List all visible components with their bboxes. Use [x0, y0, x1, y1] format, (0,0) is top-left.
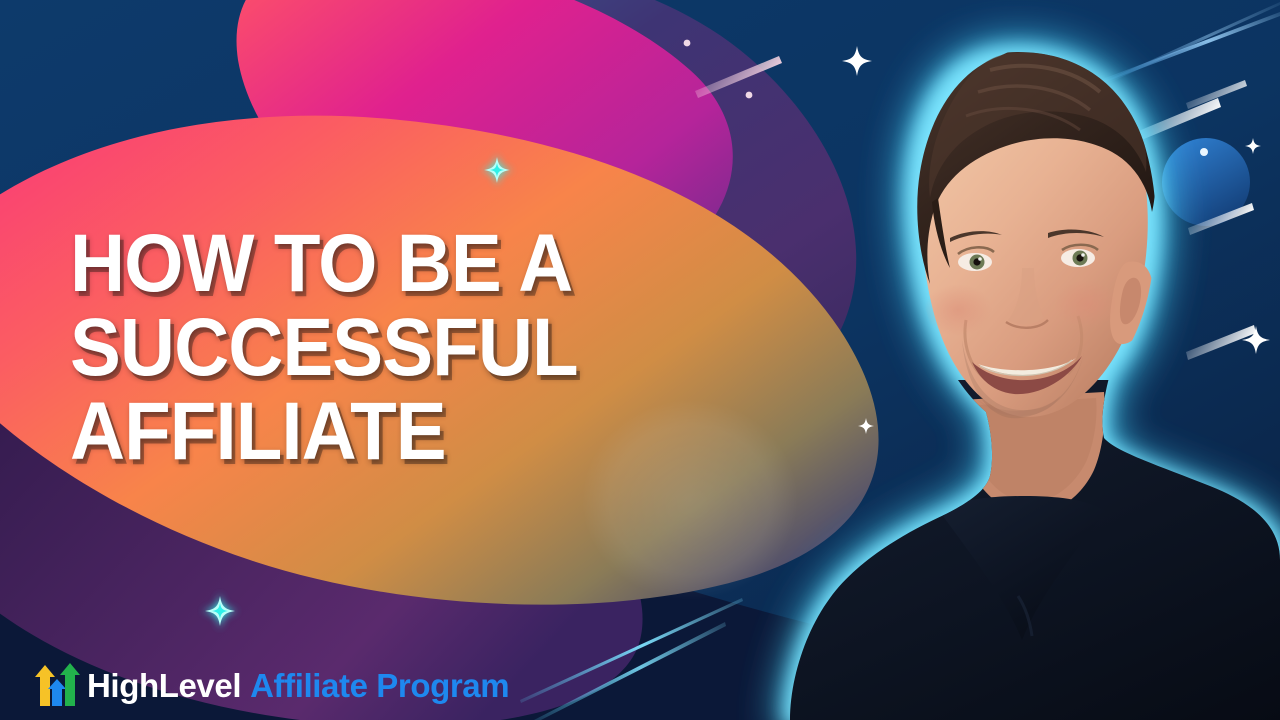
headline-line-1: HOW TO BE A: [70, 222, 578, 306]
logo-arrows-icon: [34, 662, 84, 708]
arrow-up-green-icon: [60, 663, 80, 706]
youtube-thumbnail: HOW TO BE A SUCCESSFUL AFFILIATE HighLev…: [0, 0, 1280, 720]
logo-brand-text: HighLevel: [87, 669, 241, 702]
logo-subtitle-text: Affiliate Program: [250, 669, 509, 702]
sparkle-icon: [842, 46, 1270, 434]
headline-title: HOW TO BE A SUCCESSFUL AFFILIATE: [70, 222, 616, 474]
logo-text: HighLevel Affiliate Program: [87, 669, 509, 702]
headline-line-3: AFFILIATE: [70, 390, 578, 474]
highlevel-logo-lockup: HighLevel Affiliate Program: [34, 662, 509, 708]
arrow-up-blue-icon: [48, 679, 66, 706]
headline-line-2: SUCCESSFUL: [70, 306, 578, 390]
